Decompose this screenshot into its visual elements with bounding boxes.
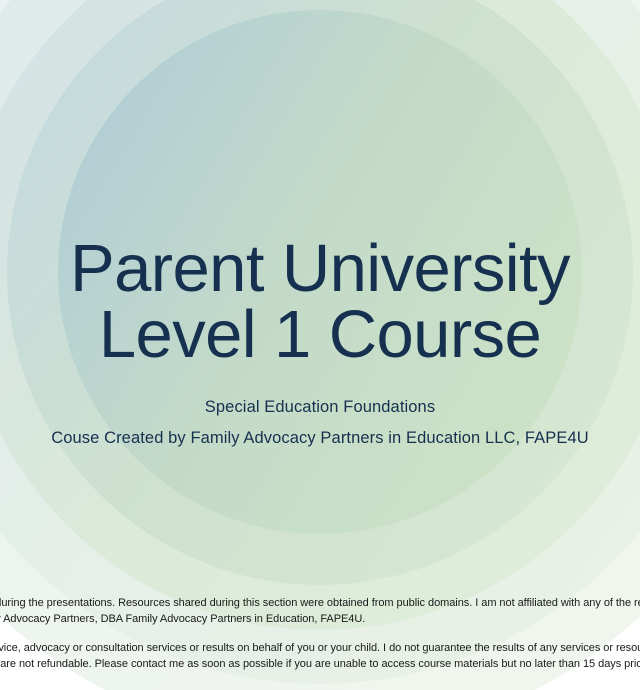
title-block: Parent University Level 1 Course Special…	[0, 236, 640, 448]
presentation-slide: Parent University Level 1 Course Special…	[0, 0, 640, 690]
disclaimer-p1-line1: Please note that no legal advice is give…	[0, 596, 640, 612]
page-title-line-2: Level 1 Course	[0, 302, 640, 368]
disclaimer-text: Please note that no legal advice is give…	[0, 596, 640, 688]
slide-subtitle-credit: Couse Created by Family Advocacy Partner…	[0, 428, 640, 448]
slide-subtitle-primary: Special Education Foundations	[0, 397, 640, 417]
disclaimer-spacer	[0, 627, 640, 641]
page-title-line-1: Parent University	[0, 236, 640, 302]
disclaimer-p2-line1: Information shared does not constitute a…	[0, 641, 640, 657]
disclaimer-p1-line2: All other materials were created by Fami…	[0, 612, 640, 628]
disclaimer-p2-line3: in the course a second time.	[0, 672, 640, 688]
disclaimer-p2-line2: Payments made for access to this course …	[0, 657, 640, 673]
